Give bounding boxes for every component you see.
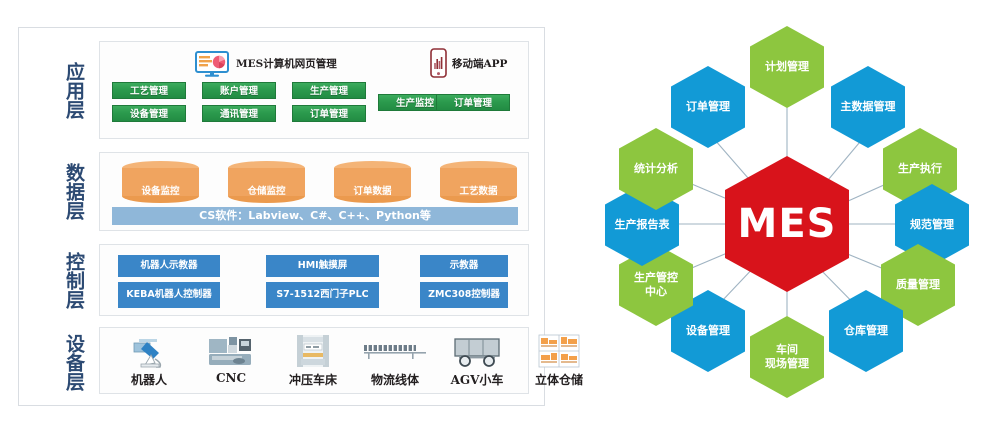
hex-node-label: 生产管控 中心 <box>634 271 678 299</box>
app-button-dingdan-guanli[interactable]: 订单管理 <box>292 105 366 122</box>
cs-software-bar: CS软件：Labview、C#、C++、Python等 <box>112 207 518 225</box>
mes-web-caption: MES计算机网页管理 <box>236 56 337 71</box>
control-button-s7-1512-siemens-plc[interactable]: S7-1512西门子PLC <box>266 282 379 308</box>
cylinder-label: 仓储监控 <box>228 183 305 197</box>
control-button-robot-teach-pendant[interactable]: 机器人示教器 <box>118 255 220 277</box>
mobile-app-caption: 移动端APP <box>452 56 507 71</box>
data-cylinder-cangchu-jiankong[interactable]: 仓储监控 <box>228 161 305 203</box>
device-label: 物流线体 <box>360 371 430 388</box>
cylinder-label: 设备监控 <box>122 183 199 197</box>
mobile-phone-chart-icon <box>430 48 447 78</box>
device-label: AGV小车 <box>442 371 512 388</box>
app-button-gongyi-guanli[interactable]: 工艺管理 <box>112 82 186 99</box>
data-cylinder-dingdan-shuju[interactable]: 订单数据 <box>334 161 411 203</box>
device-label: 冲压车床 <box>278 371 348 388</box>
data-cylinder-shebei-jiankong[interactable]: 设备监控 <box>122 161 199 203</box>
conveyor-belt-icon <box>360 332 430 370</box>
device-item-robot[interactable]: 机器人 <box>114 332 184 390</box>
agv-cart-icon <box>442 332 512 370</box>
mes-hex-wheel: MES 计划管理 主数据管理 生产执行 规范管理 质量管理 仓库管理 车间 现场… <box>575 6 1000 431</box>
app-button-dingdan-guanli-mobile[interactable]: 订单管理 <box>436 94 510 111</box>
data-cylinder-gongyi-shuju[interactable]: 工艺数据 <box>440 161 517 203</box>
app-button-tongxun-guanli[interactable]: 通讯管理 <box>202 105 276 122</box>
device-item-cnc[interactable]: CNC <box>196 332 266 390</box>
control-layer-box: 机器人示教器 HMI触摸屏 示教器 KEBA机器人控制器 S7-1512西门子P… <box>99 244 529 316</box>
architecture-panel: 应用层 数据层 控制层 设备层 MES计算机网页管理 <box>18 27 545 406</box>
cnc-machine-icon <box>196 332 266 370</box>
control-button-zmc308-controller[interactable]: ZMC308控制器 <box>420 282 508 308</box>
app-button-shengchan-guanli[interactable]: 生产管理 <box>292 82 366 99</box>
device-item-agv-cart[interactable]: AGV小车 <box>442 332 512 390</box>
diagram-canvas: 应用层 数据层 控制层 设备层 MES计算机网页管理 <box>0 0 1000 436</box>
control-button-keba-robot-controller[interactable]: KEBA机器人控制器 <box>118 282 220 308</box>
hex-node-label: 车间 现场管理 <box>765 343 809 371</box>
application-layer-box: MES计算机网页管理 移动端APP 工艺管理 账户管理 生产管理 设备管理 通讯… <box>99 41 529 139</box>
layer-label-data: 数据层 <box>49 156 83 226</box>
device-label: 机器人 <box>114 371 184 388</box>
robot-arm-icon <box>114 332 184 370</box>
layer-label-control: 控制层 <box>49 242 83 318</box>
layer-label-device: 设备层 <box>49 328 83 396</box>
control-button-hmi-touchscreen[interactable]: HMI触摸屏 <box>266 255 379 277</box>
monitor-chart-icon <box>195 51 229 77</box>
data-layer-box: 设备监控 仓储监控 订单数据 工艺数据 CS软件：Labview、C#、C++、 <box>99 152 529 231</box>
app-button-shebei-guanli[interactable]: 设备管理 <box>112 105 186 122</box>
stamping-press-icon <box>278 332 348 370</box>
device-label: CNC <box>196 371 266 385</box>
device-item-conveyor[interactable]: 物流线体 <box>360 332 430 390</box>
cylinder-label: 工艺数据 <box>440 183 517 197</box>
app-button-zhanghu-guanli[interactable]: 账户管理 <box>202 82 276 99</box>
device-item-stamping-lathe[interactable]: 冲压车床 <box>278 332 348 390</box>
control-button-teach-pendant[interactable]: 示教器 <box>420 255 508 277</box>
device-layer-box: 机器人 CNC <box>99 327 529 394</box>
application-layer-header: MES计算机网页管理 移动端APP <box>100 47 528 77</box>
layer-label-application: 应用层 <box>49 50 83 130</box>
cylinder-label: 订单数据 <box>334 183 411 197</box>
